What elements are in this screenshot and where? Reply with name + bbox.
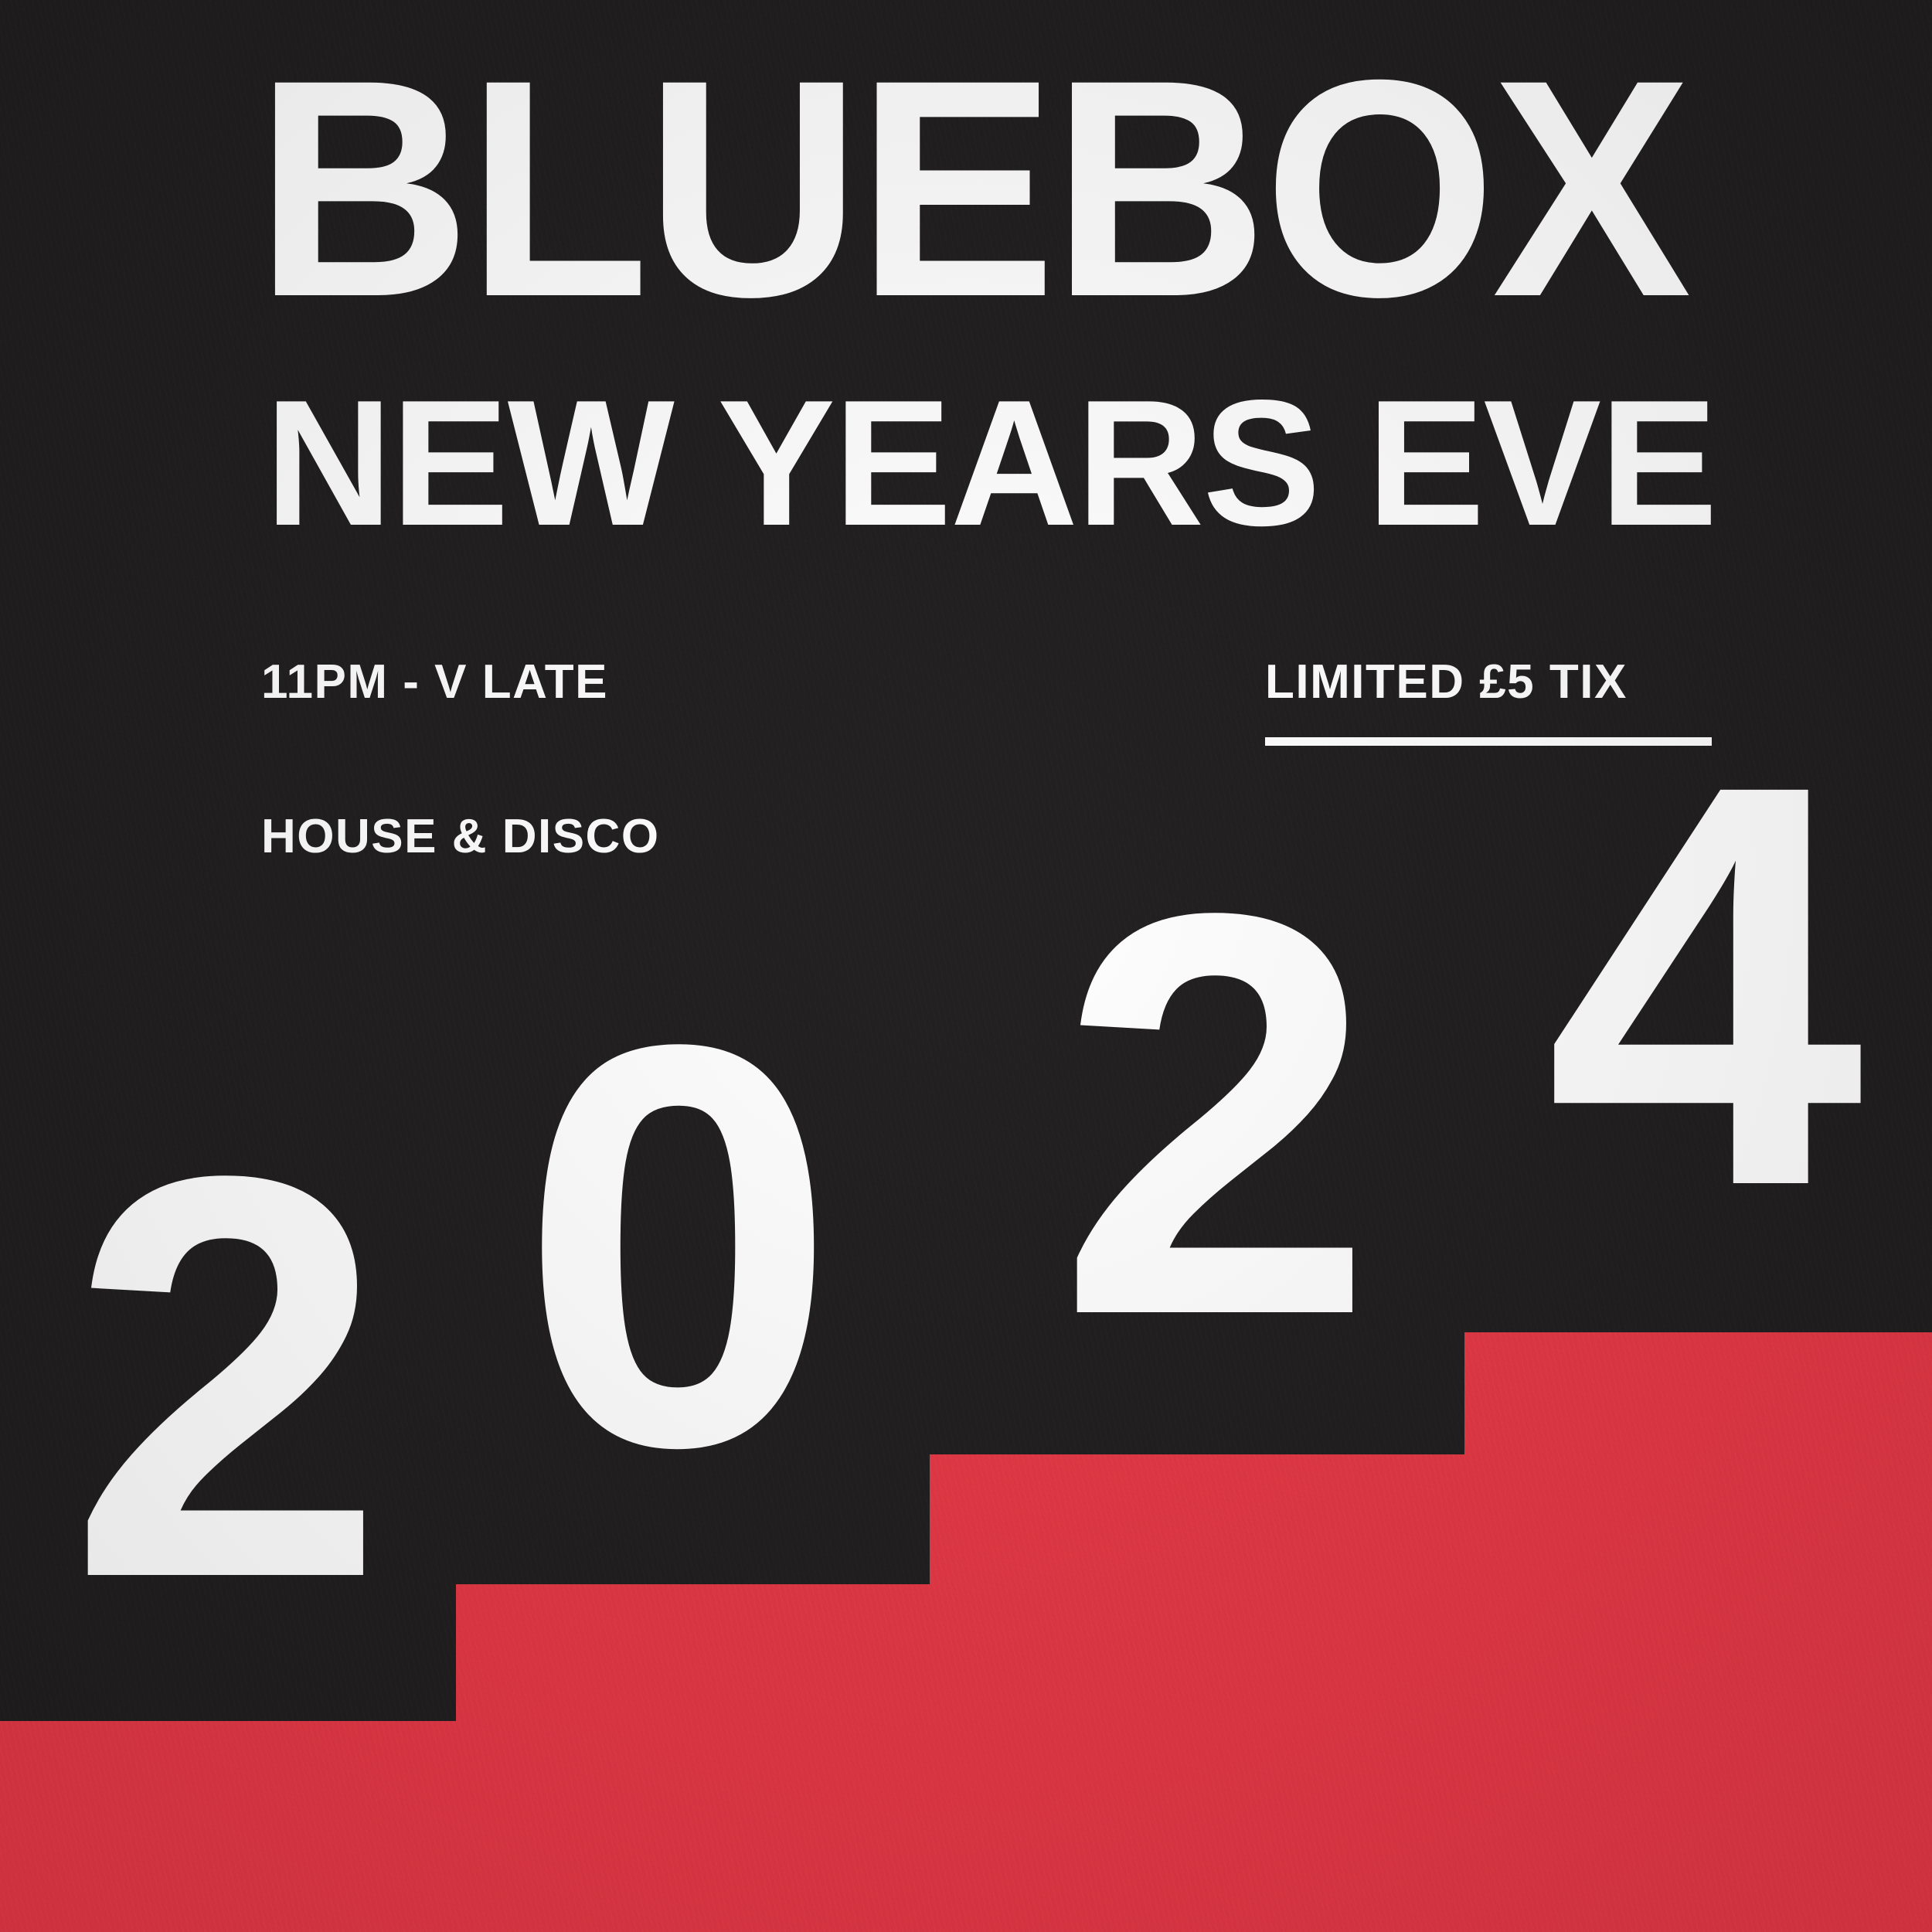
page-title: BLUEBOX [255, 68, 1687, 309]
poster-canvas: BLUEBOX NEW YEARS EVE 11PM - V LATE HOUS… [0, 0, 1932, 1932]
event-genre-label: HOUSE & DISCO [261, 813, 660, 861]
event-time-label: 11PM - V LATE [261, 658, 608, 706]
year-digit-3: 2 [1057, 828, 1376, 1400]
year-digit-4: 4 [1546, 699, 1864, 1271]
year-digit-2: 0 [519, 960, 838, 1532]
year-digit-1: 2 [68, 1091, 386, 1663]
event-subtitle: NEW YEARS EVE [265, 394, 1716, 534]
